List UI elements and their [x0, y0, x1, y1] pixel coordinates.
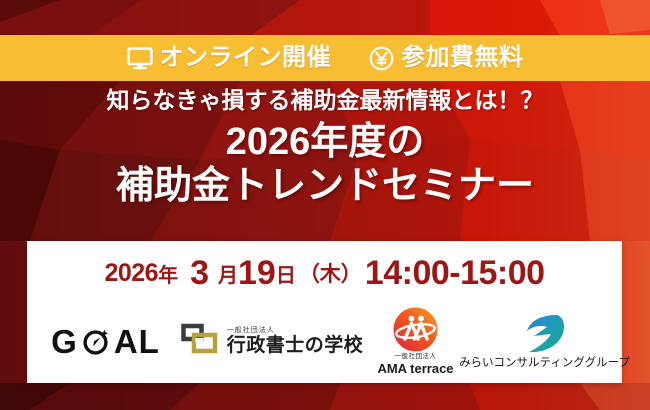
event-year-unit: 年 — [158, 259, 178, 288]
goal-text-right: AL — [114, 325, 160, 358]
event-month: 3 — [190, 254, 209, 293]
online-label: オンライン開催 — [160, 46, 332, 70]
monitor-icon — [127, 47, 153, 70]
title-line-2: 補助金トレンドセミナー — [0, 165, 650, 208]
details-card: 2026 年 3 月 19 日 （木） 14:00-15:00 G — [27, 241, 622, 383]
event-day-unit: 日 — [276, 259, 296, 288]
free-label: 参加費無料 — [401, 46, 524, 70]
online-info: オンライン開催 — [127, 46, 332, 70]
title-line-1: 2026年度の — [0, 121, 650, 164]
info-ribbon: オンライン開催 参加費無料 — [0, 35, 650, 81]
headline-block: 知らなきゃ損する補助金最新情報とは！？ 2026年度の 補助金トレンドセミナー — [0, 88, 650, 207]
compass-icon — [79, 324, 113, 358]
gyoseishoshi-text: 一般社団法人 行政書士の学校 — [227, 327, 364, 356]
event-year: 2026 — [104, 259, 158, 288]
mirai-swoosh-icon — [521, 312, 569, 356]
gyoseishoshi-title: 行政書士の学校 — [227, 336, 364, 356]
event-month-unit: 月 — [218, 259, 238, 288]
kicker-text: 知らなきゃ損する補助金最新情報とは！？ — [0, 88, 650, 113]
gyoseishoshi-prefix: 一般社団法人 — [227, 327, 364, 334]
logo-goal: G AL — [30, 324, 182, 358]
logo-gyoseishoshi: 一般社団法人 行政書士の学校 — [182, 321, 362, 361]
mirai-title: みらいコンサルティンググループ — [459, 358, 630, 370]
ama-title: AMA terrace — [377, 362, 453, 376]
event-weekday: （木） — [299, 258, 362, 288]
ama-orbit-icon — [392, 306, 439, 353]
yen-circle-icon — [369, 46, 394, 71]
ama-prefix: 一般社団法人 — [395, 354, 437, 361]
event-time: 14:00-15:00 — [365, 254, 545, 293]
free-info: 参加費無料 — [369, 46, 524, 71]
event-day: 19 — [238, 254, 276, 293]
goal-text-left: G — [51, 325, 78, 358]
event-date-row: 2026 年 3 月 19 日 （木） 14:00-15:00 — [27, 241, 622, 301]
goal-lockup: G AL — [51, 324, 160, 358]
two-squares-icon — [180, 321, 220, 361]
seminar-banner: オンライン開催 参加費無料 知らなきゃ損する補助金最新情報とは！？ 2026年度… — [0, 0, 650, 410]
partner-logo-row: G AL — [27, 301, 622, 381]
logo-ama-terrace: 一般社団法人 AMA terrace — [362, 306, 470, 375]
logo-mirai-consulting: みらいコンサルティンググループ — [470, 312, 620, 370]
